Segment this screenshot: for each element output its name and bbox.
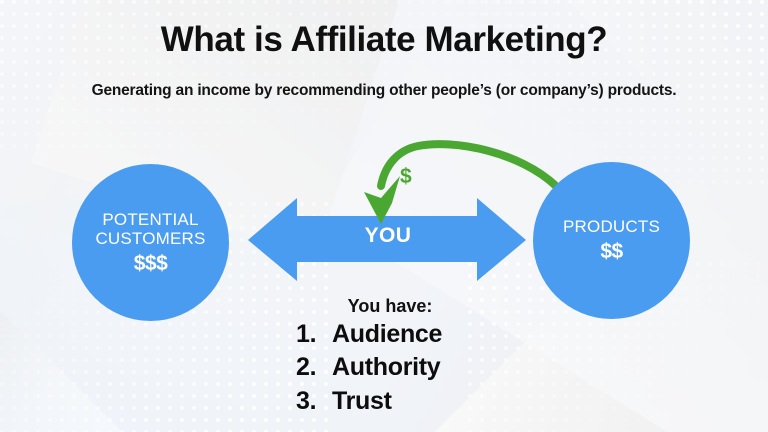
center-node-label: YOU <box>325 224 451 248</box>
list-item-label: Authority <box>332 351 440 384</box>
list-item-number: 1. <box>296 318 332 351</box>
money-dollar-symbol: $ <box>400 165 412 189</box>
node-potential-customers: POTENTIAL CUSTOMERS $$$ <box>72 164 229 321</box>
node-label-products: PRODUCTS <box>563 217 660 236</box>
node-products: PRODUCTS $$ <box>533 162 690 319</box>
node-label-line2: CUSTOMERS <box>95 229 205 248</box>
list-item: 1.Audience <box>296 318 442 351</box>
list-item-number: 3. <box>296 385 332 418</box>
node-label-line1: POTENTIAL <box>102 210 198 229</box>
slide-canvas: What is Affiliate Marketing? Generating … <box>0 0 768 432</box>
list-item: 3.Trust <box>296 385 442 418</box>
list-item-label: Audience <box>332 318 442 351</box>
assets-list: 1.Audience2.Authority3.Trust <box>296 318 442 418</box>
assets-heading: You have: <box>290 296 490 317</box>
node-amount-products: $$ <box>600 240 622 264</box>
list-item: 2.Authority <box>296 351 442 384</box>
list-item-number: 2. <box>296 351 332 384</box>
list-item-label: Trust <box>332 385 392 418</box>
node-amount-customers: $$$ <box>134 252 168 276</box>
